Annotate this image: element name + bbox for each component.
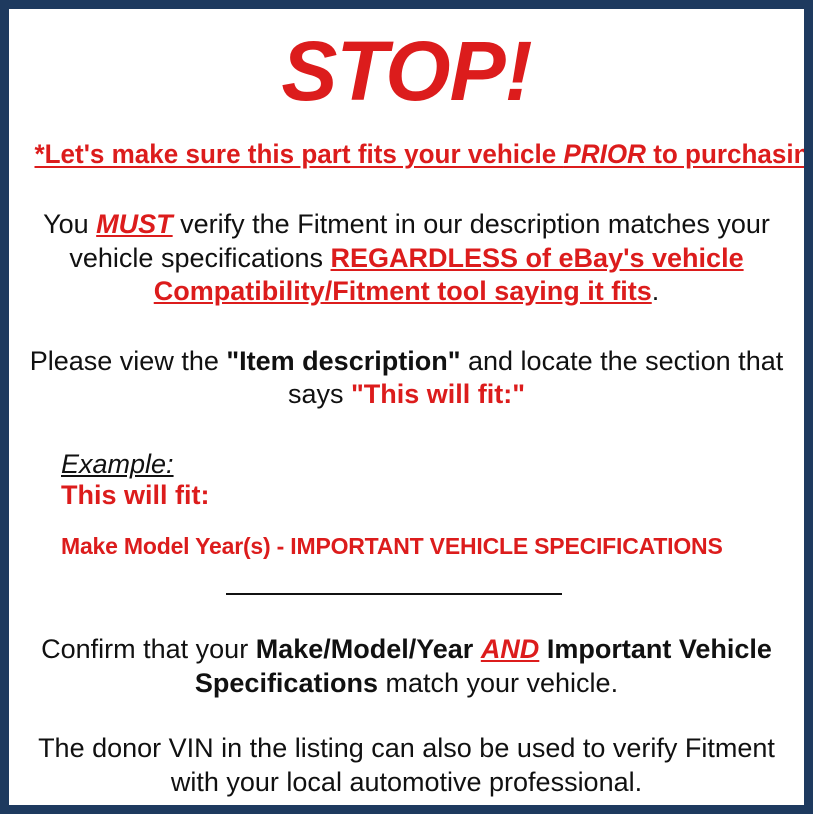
emphasis-must: MUST: [96, 209, 173, 239]
paragraph-confirm-match: Confirm that your Make/Model/Year AND Im…: [21, 633, 792, 700]
p1-segment-3: .: [652, 276, 660, 306]
example-spec-line: Make Model Year(s) - IMPORTANT VEHICLE S…: [61, 534, 792, 559]
emphasis-and: AND: [481, 634, 540, 664]
notice-content: STOP! *Let's make sure this part fits yo…: [9, 9, 804, 805]
paragraph-item-description: Please view the "Item description" and l…: [21, 345, 792, 412]
paragraph-verify-fitment: You MUST verify the Fitment in our descr…: [21, 208, 792, 308]
example-label-row: Example:: [61, 450, 792, 478]
p1-segment-1: You: [43, 209, 96, 239]
p2-segment-1: Please view the: [30, 346, 227, 376]
example-block: Example: This will fit: Make Model Year(…: [21, 450, 792, 560]
divider-row: [21, 585, 792, 603]
stop-headline: STOP!: [21, 27, 792, 115]
subtitle-line: *Let's make sure this part fits your veh…: [34, 139, 778, 170]
example-fit-heading: This will fit:: [61, 480, 792, 510]
quoted-item-description: "Item description": [226, 346, 460, 376]
horizontal-divider: [226, 593, 562, 595]
subtitle-text-part2: to purchasing*: [646, 139, 813, 169]
p3-segment-2: match your vehicle.: [378, 668, 618, 698]
emphasis-make-model-year: Make/Model/Year: [256, 634, 474, 664]
subtitle-text-part1: *Let's make sure this part fits your veh…: [34, 139, 563, 169]
fitment-notice-card: STOP! *Let's make sure this part fits yo…: [0, 0, 813, 814]
p3-segment-1: Confirm that your: [41, 634, 256, 664]
subtitle-emphasis-prior: PRIOR: [563, 139, 646, 169]
quoted-this-will-fit: "This will fit:": [351, 379, 525, 409]
example-label: Example:: [61, 450, 174, 478]
paragraph-donor-vin: The donor VIN in the listing can also be…: [21, 732, 792, 799]
